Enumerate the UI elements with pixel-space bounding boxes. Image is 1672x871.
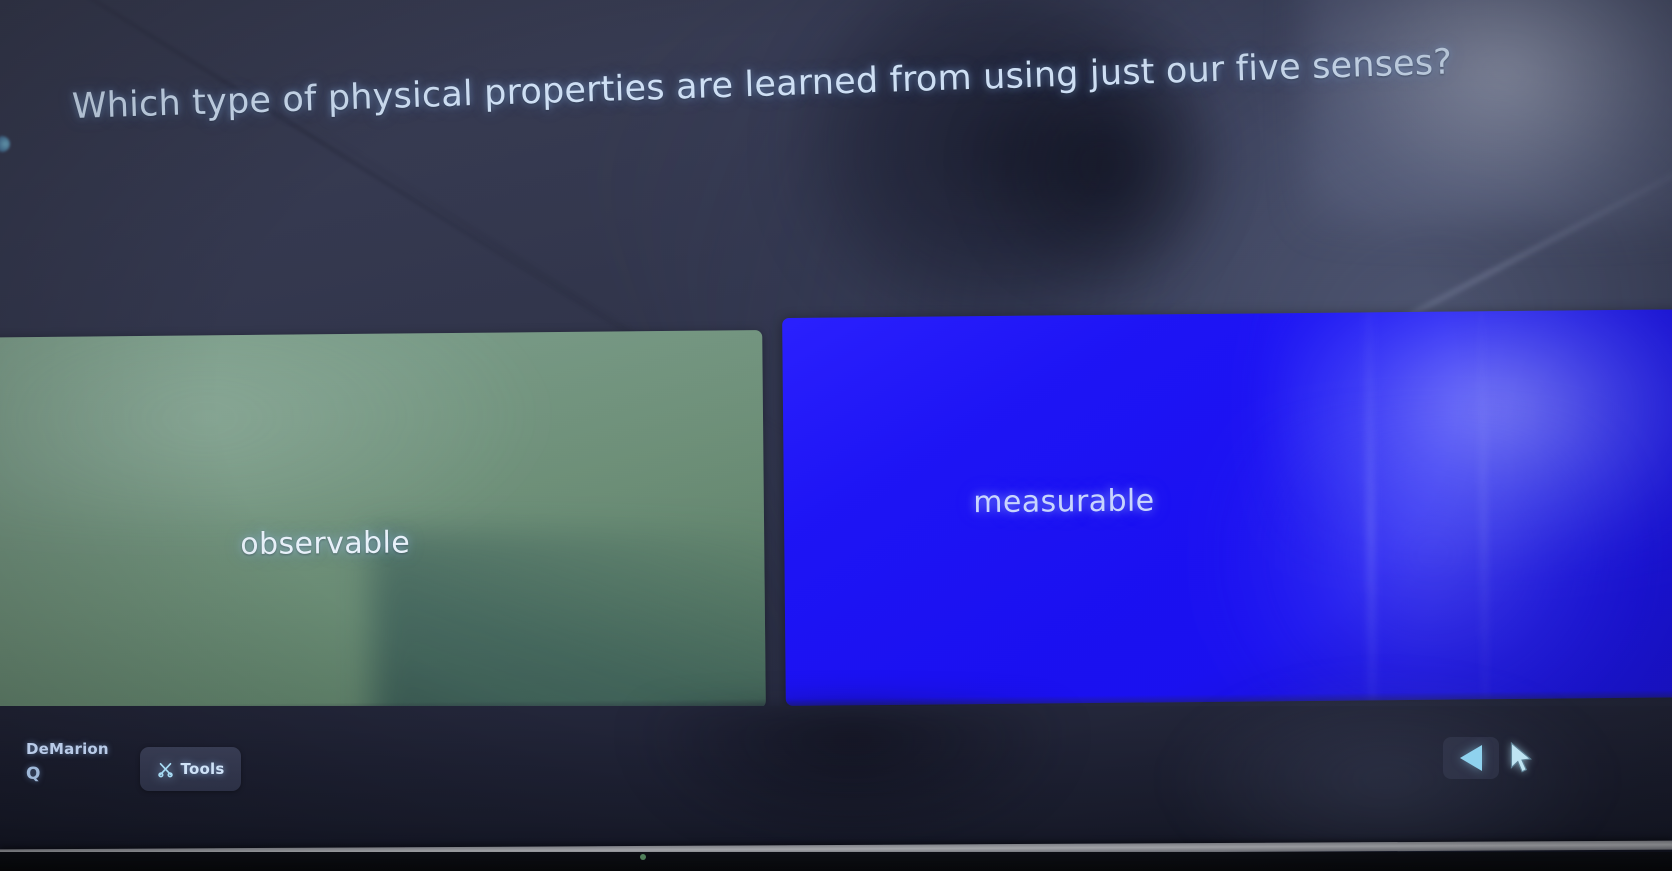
tools-button[interactable]: Tools — [140, 747, 241, 791]
below-bezel-dark-area — [0, 852, 1672, 871]
tools-button-label: Tools — [181, 760, 225, 778]
player-score: Q — [26, 766, 109, 783]
answer-option-observable-label: observable — [240, 525, 410, 562]
answer-option-observable[interactable]: observable — [0, 330, 766, 716]
answer-option-measurable[interactable]: measurable — [782, 309, 1672, 706]
scissors-icon — [157, 761, 174, 778]
bottom-toolbar — [0, 706, 1672, 854]
pointer-cursor-icon — [1508, 742, 1534, 776]
back-button[interactable] — [1443, 737, 1499, 779]
blue-tile-glare-secondary — [1216, 418, 1652, 706]
bottom-bar-dark-reflection — [635, 706, 1070, 854]
answer-option-measurable-label: measurable — [973, 483, 1155, 520]
quiz-question-screen: Which type of physical properties are le… — [0, 0, 1672, 871]
bezel-speck — [640, 854, 646, 860]
triangle-left-icon — [1460, 745, 1482, 771]
green-tile-sheen — [0, 330, 551, 527]
player-info: DeMarion Q — [26, 742, 109, 783]
player-name: DeMarion — [26, 742, 109, 757]
green-tile-shadow — [371, 526, 765, 716]
